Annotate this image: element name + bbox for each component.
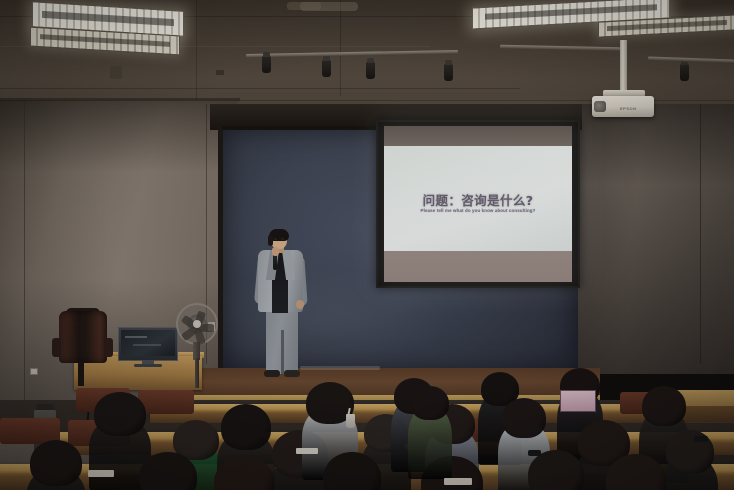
smartphone[interactable] — [528, 450, 541, 456]
audience — [0, 0, 734, 490]
audience-member-head — [94, 392, 146, 436]
audience-member — [524, 450, 588, 490]
audience-member — [135, 452, 201, 490]
paper-sheet[interactable] — [88, 470, 114, 477]
audience-member-head — [411, 386, 449, 420]
paper-sheet[interactable] — [296, 448, 318, 454]
smartphone[interactable] — [694, 436, 708, 442]
audience-member — [408, 386, 452, 476]
audience-member-head — [139, 452, 197, 490]
audience-member-head — [30, 440, 82, 486]
audience-member-head — [221, 404, 271, 450]
audience-member-head — [606, 454, 666, 490]
lecture-hall-photo: 问题：咨询是什么? Please tell me what do you kno… — [0, 0, 734, 490]
audience-member — [26, 440, 86, 490]
audience-member-head — [528, 450, 584, 490]
drink-cup[interactable] — [346, 414, 355, 428]
audience-member-head — [642, 386, 686, 426]
paper-sheet[interactable] — [444, 478, 472, 485]
audience-member — [601, 454, 671, 490]
audience-member-head — [214, 456, 274, 490]
audience-member-head — [502, 398, 546, 438]
laptop-screen[interactable] — [560, 390, 596, 412]
audience-member-head — [323, 452, 381, 490]
audience-member — [209, 456, 279, 490]
audience-member — [318, 452, 386, 490]
